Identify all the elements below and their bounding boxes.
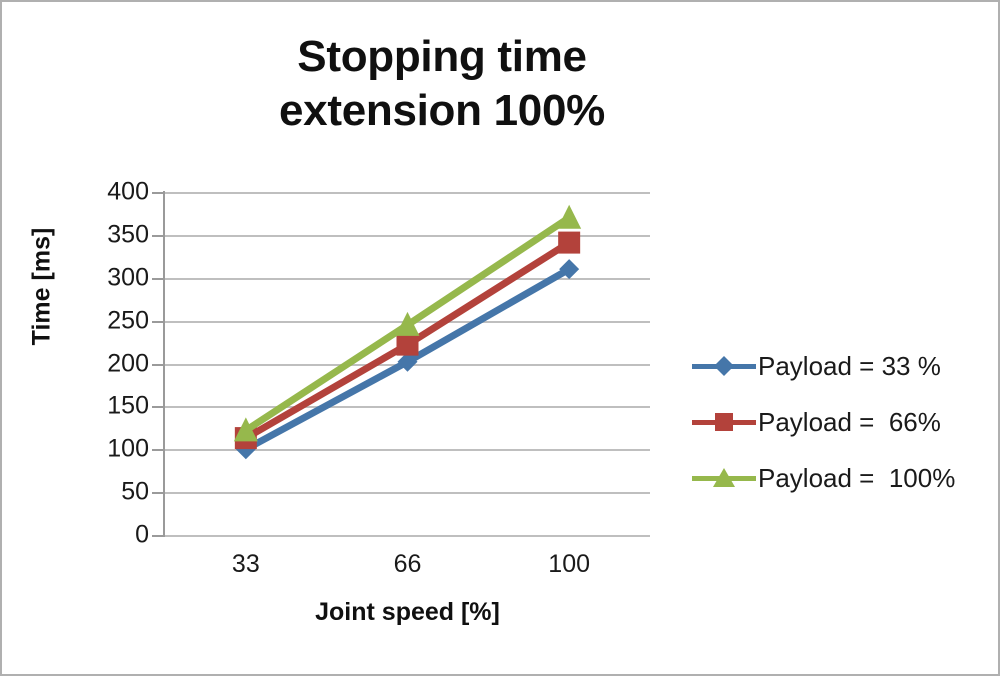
x-axis-tick-label: 33 — [186, 550, 306, 579]
y-axis-tick — [152, 364, 165, 366]
y-axis-tick — [152, 449, 165, 451]
y-axis-tick-label: 200 — [77, 349, 149, 378]
y-axis-tick — [152, 192, 165, 194]
legend-key — [692, 408, 756, 436]
y-axis-tick — [152, 492, 165, 494]
y-axis-tick-label: 350 — [77, 220, 149, 249]
diamond-marker-icon — [712, 354, 736, 378]
legend-key — [692, 352, 756, 380]
y-axis-tick — [152, 235, 165, 237]
series-diamond — [236, 259, 579, 459]
triangle-marker-icon — [712, 466, 736, 490]
chart-frame: Stopping time extension 100% Time [ms] J… — [0, 0, 1000, 676]
series-square — [235, 232, 580, 450]
y-axis-tick-label: 250 — [77, 306, 149, 335]
legend-label: Payload = 100% — [758, 463, 955, 494]
x-axis-tick-label: 100 — [509, 550, 629, 579]
legend-item-1[interactable]: Payload = 33 % — [692, 338, 992, 394]
y-axis-tick — [152, 406, 165, 408]
y-axis-tick — [152, 535, 165, 537]
y-axis-tick-label: 100 — [77, 435, 149, 464]
y-axis-tick-label: 400 — [77, 178, 149, 207]
y-axis-tick — [152, 321, 165, 323]
legend-label: Payload = 33 % — [758, 351, 941, 382]
legend-item-3[interactable]: Payload = 100% — [692, 450, 992, 506]
y-axis-tick-label: 150 — [77, 392, 149, 421]
square-marker-icon — [712, 410, 736, 434]
square-marker — [397, 334, 419, 356]
y-axis-tick-label: 300 — [77, 263, 149, 292]
y-axis-tick-label: 50 — [77, 478, 149, 507]
x-axis-tick-label: 66 — [348, 550, 468, 579]
y-axis-tick — [152, 278, 165, 280]
square-marker — [558, 232, 580, 254]
legend-item-2[interactable]: Payload = 66% — [692, 394, 992, 450]
legend-key — [692, 464, 756, 492]
chart-legend: Payload = 33 %Payload = 66%Payload = 100… — [692, 338, 992, 506]
series-triangle — [234, 205, 581, 442]
legend-label: Payload = 66% — [758, 407, 941, 438]
y-axis-tick-label: 0 — [77, 521, 149, 550]
triangle-marker — [557, 205, 581, 229]
